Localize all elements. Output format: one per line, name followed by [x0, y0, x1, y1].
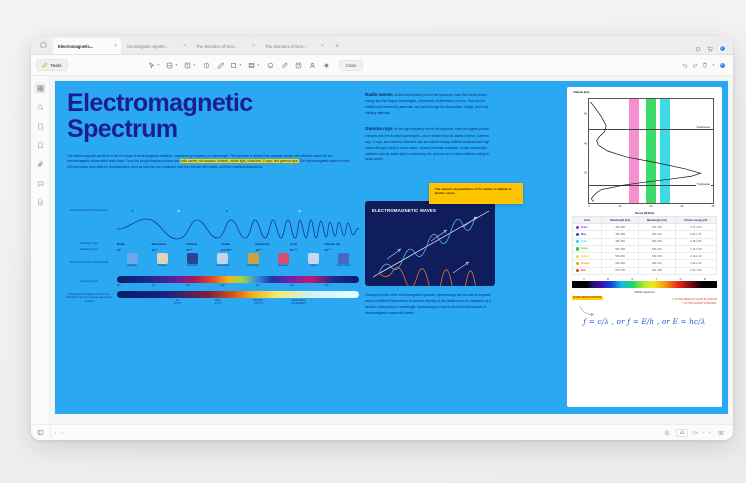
table-row: Orange 590–625 480–510 1.98–2.10: [573, 260, 717, 267]
close-icon[interactable]: ×: [252, 44, 255, 49]
chart-xlabel: Ozone (DU/km): [572, 212, 717, 215]
view-mode-icon[interactable]: [661, 427, 672, 438]
scale-icon-cells: Buildings Humans Butterflies: [117, 253, 359, 273]
cell-wavelength-2: 510–530: [639, 253, 676, 260]
frequency-tick: 10¹⁵: [221, 284, 256, 287]
scale-item-molecules: Molecules: [268, 253, 298, 273]
gamma-rays-body: , at the high-frequency end of the spect…: [365, 127, 489, 161]
sidebar-item-thumbnails[interactable]: [34, 82, 46, 94]
sidebar-item-search[interactable]: [34, 101, 46, 113]
letter-o: O: [680, 278, 682, 281]
zoom-in-button[interactable]: +: [709, 430, 711, 435]
temp-tick-10000000k: 10,000,000 K ~10,000,000°C: [278, 299, 318, 305]
radio-waves-paragraph: Radio waves, at the low-frequency end of…: [365, 91, 495, 117]
tab-bar-actions: –: [687, 45, 733, 54]
delete-icon[interactable]: [702, 62, 708, 68]
mark-n-1: N: [178, 209, 180, 213]
chart-ylabel: Altitude (km): [573, 91, 589, 94]
color-name: Yellow: [581, 255, 589, 258]
letter-b: B: [607, 278, 609, 281]
table-row: Yellow 565–590 510–530 2.10–2.19: [573, 253, 717, 260]
frequency-bar-graphic: [117, 276, 359, 283]
temp-celsius: 9,727°C: [238, 302, 278, 305]
tab-bar: Electromagnetic... × Geomagnetic Myster.…: [31, 36, 733, 55]
cell-wavelength-2: 670–790: [639, 224, 676, 231]
visible-spectrum-gradient: [572, 281, 717, 288]
page-title: Electromagnetic Spectrum: [67, 91, 358, 143]
fit-page-icon[interactable]: [715, 427, 726, 438]
frequency-band: 10⁶ 10⁸ 10¹² 10¹⁵ 10¹⁶ 10¹⁸ 10²⁰: [117, 276, 359, 287]
mark-y-2: Y: [226, 209, 228, 213]
cell-photon-energy: 2.56–2.75: [675, 231, 716, 238]
scale-item-protozoans: Protozoans: [238, 253, 268, 273]
table-row: Violet 380–450 670–790 2.75–3.26: [573, 224, 717, 231]
cell-wavelength-1: 625–750: [602, 267, 639, 274]
closing-paragraph: Throughout most of the electromagnetic s…: [365, 293, 495, 317]
close-icon[interactable]: ×: [321, 44, 324, 49]
radiation-type-infrared: Infrared: [186, 242, 221, 246]
highlighter-tool[interactable]: [278, 59, 291, 72]
frequency-tick: 10¹⁸: [290, 284, 325, 287]
letter-y: Y: [656, 278, 658, 281]
scale-label: Buildings: [127, 265, 136, 267]
home-button[interactable]: [33, 36, 53, 54]
document-page: Electromagnetic Spectrum The electromagn…: [55, 81, 728, 414]
buildings-icon: [127, 253, 138, 264]
scale-item-humans: Humans: [147, 253, 177, 273]
photon-energy-formula: ƒ = c/λ , or ƒ = E/h , or E = hc/λ: [572, 318, 717, 326]
color-swatch-violet: [576, 226, 579, 229]
wave-diagram: [117, 217, 359, 241]
gamma-rays-heading: Gamma rays: [365, 126, 393, 131]
cell-wavelength-1: 590–625: [602, 260, 639, 267]
middle-column: Radio waves, at the low-frequency end of…: [365, 91, 495, 163]
annotation-arrow: [578, 305, 618, 317]
wavelength-value: 10⁻¹⁰: [290, 248, 325, 252]
mark-y-1: Y: [132, 209, 134, 213]
ozone-altitude-chart: Altitude (km) Ozone (DU/km) 20 40 60 0 1…: [572, 91, 717, 214]
row-label: Radiation Type: [65, 242, 117, 245]
cell-color: Yellow: [573, 253, 602, 260]
letter-r: R: [704, 278, 706, 281]
chart-plot-area: 20 40 60 0 10 20 30 40: [588, 98, 714, 204]
scale-label: Atomic Nuclei: [337, 265, 351, 267]
divider: [50, 428, 51, 437]
temp-tick-spacer: [319, 299, 359, 305]
avatar[interactable]: [719, 45, 726, 52]
sidebar-item-pages[interactable]: [34, 120, 46, 132]
visible-spectrum-strip: V B G Y O R Visible Spectrum: [572, 278, 717, 294]
scale-label: Atoms: [310, 265, 317, 267]
humans-icon: [157, 253, 168, 264]
wavelength-value: 10⁻⁸: [255, 248, 290, 252]
table-row: Cyan 485–500 600–620 2.48–2.56: [573, 238, 717, 245]
radio-wave-photons-tag[interactable]: RADIO WAVE PHOTONS: [572, 296, 603, 300]
row-wave-diagram: [65, 217, 359, 241]
temp-celsius: ~10,000,000°C: [278, 302, 318, 305]
cell-color: Orange: [573, 260, 602, 267]
table-row: Green 500–565 530–600 2.19–2.48: [573, 245, 717, 252]
row-radiation-type: Radiation Type Radio Microwave Infrared …: [65, 242, 359, 246]
undo-icon[interactable]: [682, 62, 688, 68]
sidebar-item-attachments[interactable]: [34, 158, 46, 170]
layout-tool[interactable]: ▼: [246, 59, 263, 72]
zoom-out-button[interactable]: −: [702, 430, 704, 435]
table-row: Blue 450–485 620–670 2.56–2.75: [573, 231, 717, 238]
chevron-down-icon[interactable]: ▼: [712, 63, 715, 67]
radiation-type-visible: Visible: [221, 242, 256, 246]
chevron-down-icon[interactable]: ▼: [257, 63, 260, 67]
chevron-down-icon[interactable]: ▼: [193, 63, 196, 67]
prev-page-button[interactable]: ‹: [55, 430, 56, 435]
wavelength-value: 0.5×10⁻⁶: [221, 248, 256, 252]
cell-wavelength-2: 400–480: [639, 267, 676, 274]
atmosphere-bar-graphic: Y N Y N: [117, 207, 359, 215]
color-swatch-orange: [576, 262, 579, 265]
temp-tick-10000k: 10,000 K 9,727°C: [238, 299, 278, 305]
tools-label: Tools: [51, 63, 62, 68]
radiation-type-radio: Radio: [117, 242, 152, 246]
new-tab-button[interactable]: +: [329, 40, 345, 54]
wavelength-value: 10⁻⁵: [186, 248, 221, 252]
frequency-tick: 10⁶: [117, 284, 152, 287]
cell-photon-energy: 2.75–3.26: [675, 224, 716, 231]
radio-waves-heading: Radio waves: [365, 92, 393, 97]
row-label: Wavelength (m): [65, 248, 117, 251]
gamma-rays-paragraph: Gamma rays, at the high-frequency end of…: [365, 125, 495, 163]
wavelength-value: 10⁻²: [152, 248, 187, 252]
color-name: Blue: [581, 233, 586, 236]
color-name: Orange: [581, 262, 590, 265]
row-label: Temperature of objects at which this rad…: [65, 293, 117, 303]
cell-wavelength-1: 450–485: [602, 231, 639, 238]
scale-label: Needle Point: [216, 265, 229, 267]
cell-wavelength-2: 600–620: [639, 238, 676, 245]
window-body: Electromagnetic Spectrum The electromagn…: [31, 76, 733, 424]
temperature-ticks: 1 K -272°C 100 K -173°C 10,000 K: [117, 299, 359, 305]
table-row: Red 625–750 400–480 1.65–1.98: [573, 267, 717, 274]
cell-photon-energy: 1.65–1.98: [675, 267, 716, 274]
color-name: Green: [581, 248, 588, 251]
cell-color: Red: [573, 267, 602, 274]
color-name: Cyan: [581, 240, 587, 243]
col-photon-energy: Photon energy (eV): [675, 217, 716, 224]
tab-electromagnetic[interactable]: Electromagnetic... ×: [53, 38, 121, 54]
sticker-tool[interactable]: [292, 59, 305, 72]
chevron-down-icon[interactable]: ▼: [175, 63, 178, 67]
cart-icon[interactable]: [707, 46, 713, 52]
left-sidebar: [31, 76, 50, 424]
page-total-label: / 24: [692, 430, 699, 435]
scale-item-butterflies: Butterflies: [178, 253, 208, 273]
constant-notes: C IS THE SPEED OF LIGHT IN VACUUM H IS T…: [673, 298, 717, 305]
radiation-type-xray: X-ray: [290, 242, 325, 246]
scale-label: Protozoans: [247, 265, 259, 267]
cell-color: Violet: [573, 224, 602, 231]
chart-xtick: 10: [619, 203, 622, 208]
electromagnetic-waves-figure: ELECTROMAGNETIC WAVES: [365, 201, 495, 286]
sidebar-item-signatures[interactable]: [34, 196, 46, 208]
cell-color: Green: [573, 245, 602, 252]
cell-color: Blue: [573, 231, 602, 238]
color-swatch-yellow: [576, 255, 579, 258]
close-icon[interactable]: ×: [183, 44, 186, 49]
signature-tool[interactable]: [306, 59, 319, 72]
needle-icon: [217, 253, 228, 264]
cell-photon-energy: 2.10–2.19: [675, 253, 716, 260]
next-page-button[interactable]: ›: [61, 430, 62, 435]
bell-icon[interactable]: [695, 46, 701, 52]
temp-celsius: -173°C: [198, 302, 238, 305]
sticky-note[interactable]: The amount of penetration of UV relative…: [429, 183, 523, 204]
radiation-type-ultraviolet: Ultraviolet: [255, 242, 290, 246]
radiation-type-cells: Radio Microwave Infrared Visible Ultravi…: [117, 242, 359, 246]
row-temperature: Temperature of objects at which this rad…: [65, 291, 359, 305]
color-swatch-green: [576, 247, 579, 250]
letter-v: V: [583, 278, 585, 281]
radiation-type-gamma: Gamma ray: [324, 242, 359, 246]
color-swatch-blue: [576, 233, 579, 236]
frequency-tick: 10²⁰: [324, 284, 359, 287]
cell-wavelength-1: 380–450: [602, 224, 639, 231]
handwritten-notes: RADIO WAVE PHOTONS C IS THE SPEED OF LIG…: [572, 296, 717, 305]
letter-g: G: [631, 278, 633, 281]
wavelength-value: 10⁻¹²: [324, 248, 359, 252]
cell-wavelength-2: 620–670: [639, 231, 676, 238]
sidebar-item-bookmarks[interactable]: [34, 139, 46, 151]
visible-color-table: Color Wavelength (nm) Wavelength (nm) Ph…: [572, 216, 717, 275]
col-color: Color: [573, 217, 602, 224]
wavelength-value: 10³: [117, 248, 152, 252]
temperature-band: 1 K -272°C 100 K -173°C 10,000 K: [117, 291, 359, 305]
color-name: Red: [581, 269, 586, 272]
document-canvas[interactable]: Electromagnetic Spectrum The electromagn…: [50, 76, 733, 424]
frequency-tick: 10⁸: [152, 284, 187, 287]
select-tool[interactable]: ▼: [146, 59, 163, 72]
scale-item-atomic-nuclei: Atomic Nuclei: [329, 253, 359, 273]
row-label: Frequency (Hz): [65, 280, 117, 283]
molecule-icon: [278, 253, 289, 264]
toolbar: Tools ▼ ▼ ▼: [31, 55, 733, 76]
cell-wavelength-1: 485–500: [602, 238, 639, 245]
row-frequency: Frequency (Hz) 10⁶ 10⁸ 10¹² 10¹⁵ 10¹⁶ 10…: [65, 276, 359, 287]
protozoan-icon: [248, 253, 259, 264]
col-wavelength-2: Wavelength (nm): [639, 217, 676, 224]
radiation-type-microwave: Microwave: [152, 242, 187, 246]
table-header-row: Color Wavelength (nm) Wavelength (nm) Ph…: [573, 217, 717, 224]
cell-photon-energy: 2.48–2.56: [675, 238, 716, 245]
tab-label: Electromagnetic...: [58, 44, 111, 49]
left-column: Electromagnetic Spectrum The electromagn…: [67, 91, 358, 171]
wavelength-cells: 10³ 10⁻² 10⁻⁵ 0.5×10⁻⁶ 10⁻⁸ 10⁻¹⁰ 10⁻¹²: [117, 248, 359, 252]
row-scale-of-wavelength: Approximate Scale of Wavelength Building…: [65, 253, 359, 273]
scale-label: Molecules: [278, 265, 288, 267]
atom-icon: [308, 253, 319, 264]
tab-wonders-of-geo-2[interactable]: The Wonders of Geo... ×: [260, 38, 328, 54]
frequency-tick: 10¹²: [186, 284, 221, 287]
lead-paragraph: The electromagnetic spectrum is the full…: [67, 154, 353, 172]
visible-spectrum-caption: Visible Spectrum: [572, 290, 717, 294]
tab-label: The Wonders of Geo...: [196, 44, 249, 49]
minimize-icon[interactable]: –: [687, 46, 689, 51]
text-box-tool[interactable]: ▼: [182, 59, 199, 72]
crop-tool[interactable]: [320, 59, 333, 72]
tab-label: The Wonders of Geo...: [265, 44, 318, 49]
scale-item-buildings: Buildings: [117, 253, 147, 273]
toggle-sidebar-icon[interactable]: [35, 427, 46, 438]
cell-photon-energy: 1.98–2.10: [675, 260, 716, 267]
page-number-input[interactable]: 12: [676, 429, 687, 437]
row-label: Penetrates Earth's Atmosphere?: [65, 209, 117, 212]
frequency-ticks: 10⁶ 10⁸ 10¹² 10¹⁵ 10¹⁶ 10¹⁸ 10²⁰: [117, 284, 359, 287]
close-icon[interactable]: ×: [114, 44, 117, 49]
status-bar: ‹ › 12 / 24 − +: [31, 424, 733, 440]
desktop-background: Electromagnetic... × Geomagnetic Myster.…: [0, 0, 746, 483]
tools-button[interactable]: Tools: [36, 59, 68, 71]
cell-color: Cyan: [573, 238, 602, 245]
frequency-tick: 10¹⁶: [255, 284, 290, 287]
toolbar-right-actions: ▼: [682, 62, 726, 69]
scale-label: Humans: [158, 265, 167, 267]
butterfly-icon: [187, 253, 198, 264]
cell-wavelength-2: 480–510: [639, 260, 676, 267]
close-button[interactable]: Close: [339, 60, 364, 71]
color-swatch-cyan: [576, 240, 579, 243]
scale-label: Butterflies: [188, 265, 198, 267]
lead-highlight[interactable]: radio waves, microwaves, infrared, visib…: [180, 159, 299, 163]
page-tool[interactable]: ▼: [164, 59, 181, 72]
row-penetrates-atmosphere: Penetrates Earth's Atmosphere? Y N Y N: [65, 207, 359, 215]
tab-label: Geomagnetic Myster...: [127, 44, 180, 49]
shape-tool[interactable]: ▼: [228, 59, 245, 72]
temp-tick-spacer: [117, 299, 157, 305]
chevron-down-icon[interactable]: ▼: [239, 63, 242, 67]
history-tool[interactable]: [200, 59, 213, 72]
sidebar-item-comments[interactable]: [34, 177, 46, 189]
stamp-tool[interactable]: [264, 59, 277, 72]
cell-wavelength-2: 530–600: [639, 245, 676, 252]
temp-celsius: -272°C: [157, 302, 197, 305]
color-name: Violet: [581, 226, 588, 229]
pen-tool[interactable]: [214, 59, 227, 72]
chart-xtick: 20: [650, 203, 653, 208]
temp-tick-1k: 1 K -272°C: [157, 299, 197, 305]
annotation-tool-group: ▼ ▼ ▼ ▼: [146, 59, 364, 72]
cell-photon-energy: 2.19–2.48: [675, 245, 716, 252]
cell-wavelength-1: 500–565: [602, 245, 639, 252]
tab-wonders-of-geo-1[interactable]: The Wonders of Geo... ×: [191, 38, 259, 54]
temperature-bar-graphic: [117, 291, 359, 298]
status-bar-right: 12 / 24 − +: [661, 427, 726, 438]
temp-tick-100k: 100 K -173°C: [198, 299, 238, 305]
tab-geomagnetic-mysteries[interactable]: Geomagnetic Myster... ×: [122, 38, 190, 54]
atmosphere-bar: Y N Y N: [117, 207, 359, 215]
spectrum-infographic: Penetrates Earth's Atmosphere? Y N Y N: [65, 207, 359, 307]
col-wavelength-1: Wavelength (nm): [602, 217, 639, 224]
user-avatar[interactable]: [719, 62, 726, 69]
cell-wavelength-1: 565–590: [602, 253, 639, 260]
chart-xtick: 0: [588, 203, 589, 208]
row-wavelength: Wavelength (m) 10³ 10⁻² 10⁻⁵ 0.5×10⁻⁶ 10…: [65, 248, 359, 252]
scale-item-atoms: Atoms: [299, 253, 329, 273]
color-swatch-red: [576, 269, 579, 272]
scale-item-needle-point: Needle Point: [208, 253, 238, 273]
redo-icon[interactable]: [692, 62, 698, 68]
chart-xtick: 40: [712, 203, 715, 208]
note-planck-constant: H IS THE PLANCK CONSTANT.: [673, 302, 717, 306]
chevron-down-icon[interactable]: ▼: [157, 63, 160, 67]
app-window: Electromagnetic... × Geomagnetic Myster.…: [31, 36, 733, 440]
row-label: Approximate Scale of Wavelength: [65, 261, 117, 264]
chart-xtick: 30: [681, 203, 684, 208]
nucleus-icon: [338, 253, 349, 264]
mark-n-2: N: [299, 209, 301, 213]
right-panel: Altitude (km) Ozone (DU/km) 20 40 60 0 1…: [567, 87, 722, 407]
